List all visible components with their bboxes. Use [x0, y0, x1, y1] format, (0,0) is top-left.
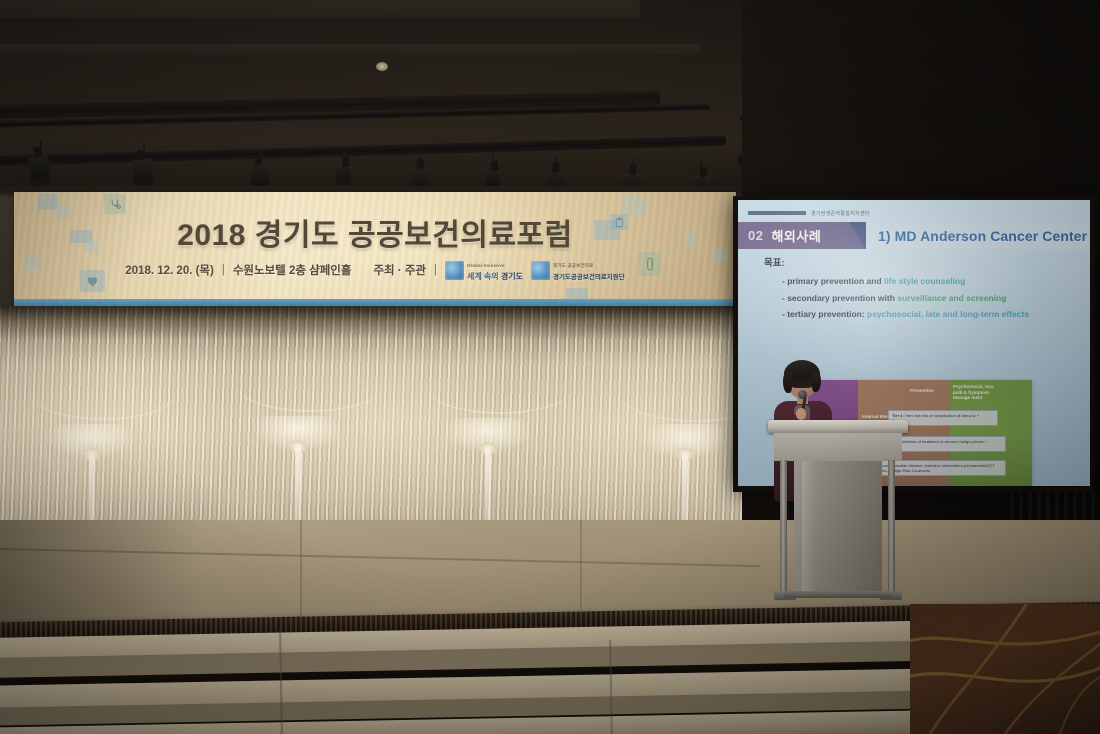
banner-logo-gyeonggi: Global Inclusive 세계 속의 경기도 — [445, 258, 523, 282]
slide-bullet-list: - primary prevention and life style coun… — [782, 276, 1090, 319]
bullet-lead: - secondary prevention with — [782, 293, 897, 303]
banner-title: 2018 경기도 공공보건의료포럼 — [14, 210, 736, 254]
bullet-accent: surveillance and screening — [897, 293, 1006, 303]
bullet-accent: life style counseling — [884, 276, 965, 286]
conference-hall-photo: 2018 경기도 공공보건의료포럼 2018. 12. 20. (목) | 수원… — [0, 0, 1100, 734]
curtain-swag — [235, 354, 385, 412]
logo-tagline: 경기도 공공보건의료 — [553, 263, 594, 268]
slide-section-block: 02 해외사례 — [738, 222, 866, 249]
slide-bullet: - primary prevention and life style coun… — [782, 276, 1090, 286]
slide-section-title: 해외사례 — [771, 226, 821, 245]
podium — [768, 420, 908, 600]
banner-date: 2018. 12. 20. (목) — [125, 262, 214, 278]
slide-header-small: 경기암생존자통합지지센터 — [811, 210, 870, 217]
diagram-col3-right-label: Psychosocial, Sxs, palli & Symptom Manag… — [953, 384, 997, 401]
banner-host-label: 주최 · 주관 — [373, 262, 426, 278]
banner-subtitle: 2018. 12. 20. (목) | 수원노보텔 2층 샴페인홀 주최 · 주… — [14, 258, 736, 282]
curtain-top-shadow — [0, 306, 742, 340]
slide-section-number: 02 — [748, 228, 763, 243]
stage-curtain — [0, 306, 742, 528]
stage-shadow — [0, 520, 200, 632]
banner-venue: 수원노보텔 2층 샴페인홀 — [233, 262, 352, 278]
floor-carpet — [910, 604, 1100, 734]
slide-wedge-icon — [849, 222, 866, 249]
podium-front-panel — [774, 433, 902, 461]
speaker-hair-side — [812, 371, 821, 392]
logo-name-prefix: 세계 속의 — [467, 272, 501, 281]
slide-body: 목표: - primary prevention and life style … — [738, 255, 1090, 326]
podium-column-highlight — [802, 461, 816, 591]
bullet-lead: - primary prevention and — [782, 276, 884, 286]
curtain-tieback — [428, 418, 548, 490]
event-banner: 2018 경기도 공공보건의료포럼 2018. 12. 20. (목) | 수원… — [14, 192, 736, 310]
slide-goal-label: 목표: — [764, 255, 1090, 269]
banner-separator: | — [434, 264, 437, 276]
logo-tagline: Global Inclusive — [467, 263, 505, 268]
slide-top-rule: 경기암생존자통합지지센터 — [748, 210, 1076, 216]
banner-logo-support-center: 경기도 공공보건의료 경기도공공보건의료지원단 — [531, 258, 625, 282]
curtain-tieback — [625, 424, 742, 496]
slide-topic-block: 1) MD Anderson Cancer Center — [866, 222, 1090, 249]
slide-bullet: - tertiary prevention: psychosocial, lat… — [782, 309, 1090, 319]
slide-rule-bar — [748, 211, 806, 215]
logo-name-bold: 경기도 — [501, 272, 523, 281]
slide-topic-title: 1) MD Anderson Cancer Center — [866, 228, 1087, 244]
podium-base-bar — [784, 591, 892, 598]
stage-deck-seam — [580, 520, 582, 615]
bullet-accent: psychosocial, late and long-term effects — [867, 309, 1029, 319]
stage-deck-seam — [300, 520, 302, 620]
curtain-swag — [425, 356, 575, 414]
sprinkler-icon — [376, 62, 388, 71]
logo-mark-icon — [531, 261, 550, 280]
banner-separator: | — [222, 264, 225, 276]
podium-leg — [780, 460, 787, 596]
podium-leg — [888, 460, 895, 596]
logo-mark-icon — [445, 261, 464, 280]
diagram-col3-top-label: Prevention — [910, 388, 934, 394]
slide-bullet: - secondary prevention with surveillance… — [782, 293, 1090, 303]
podium-top-surface — [768, 420, 908, 433]
slide-header: 02 해외사례 1) MD Anderson Cancer Center — [738, 222, 1090, 249]
logo-name-bold: 경기도공공보건의료지원단 — [553, 274, 625, 281]
bullet-lead: - tertiary prevention: — [782, 309, 867, 319]
curtain-tieback — [32, 424, 152, 496]
carpet-pattern-icon — [910, 604, 1100, 734]
microphone-icon — [798, 390, 807, 399]
curtain-tieback — [238, 416, 358, 488]
curtain-swag — [28, 362, 178, 420]
speaker-hand — [796, 408, 806, 420]
speaker-hair-side — [783, 371, 792, 393]
